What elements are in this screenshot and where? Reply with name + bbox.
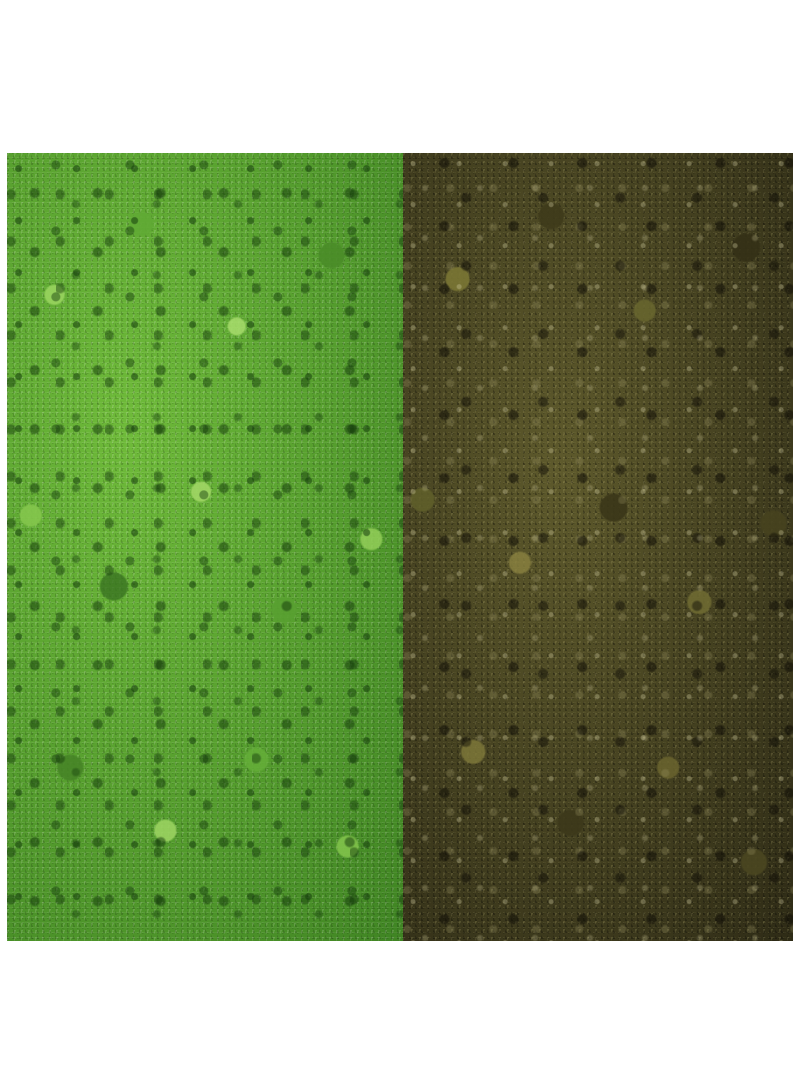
ours-moss-photo: [7, 153, 403, 941]
comparison-board: Ours High-quality nylon material: [7, 153, 793, 941]
others-moss-photo: [403, 153, 793, 941]
ours-panel: Ours High-quality nylon material: [7, 153, 403, 941]
ours-moss-photo-detail: [7, 153, 403, 941]
others-panel: Others Poor quality Req: [403, 153, 793, 941]
others-moss-photo-detail: [403, 153, 793, 941]
